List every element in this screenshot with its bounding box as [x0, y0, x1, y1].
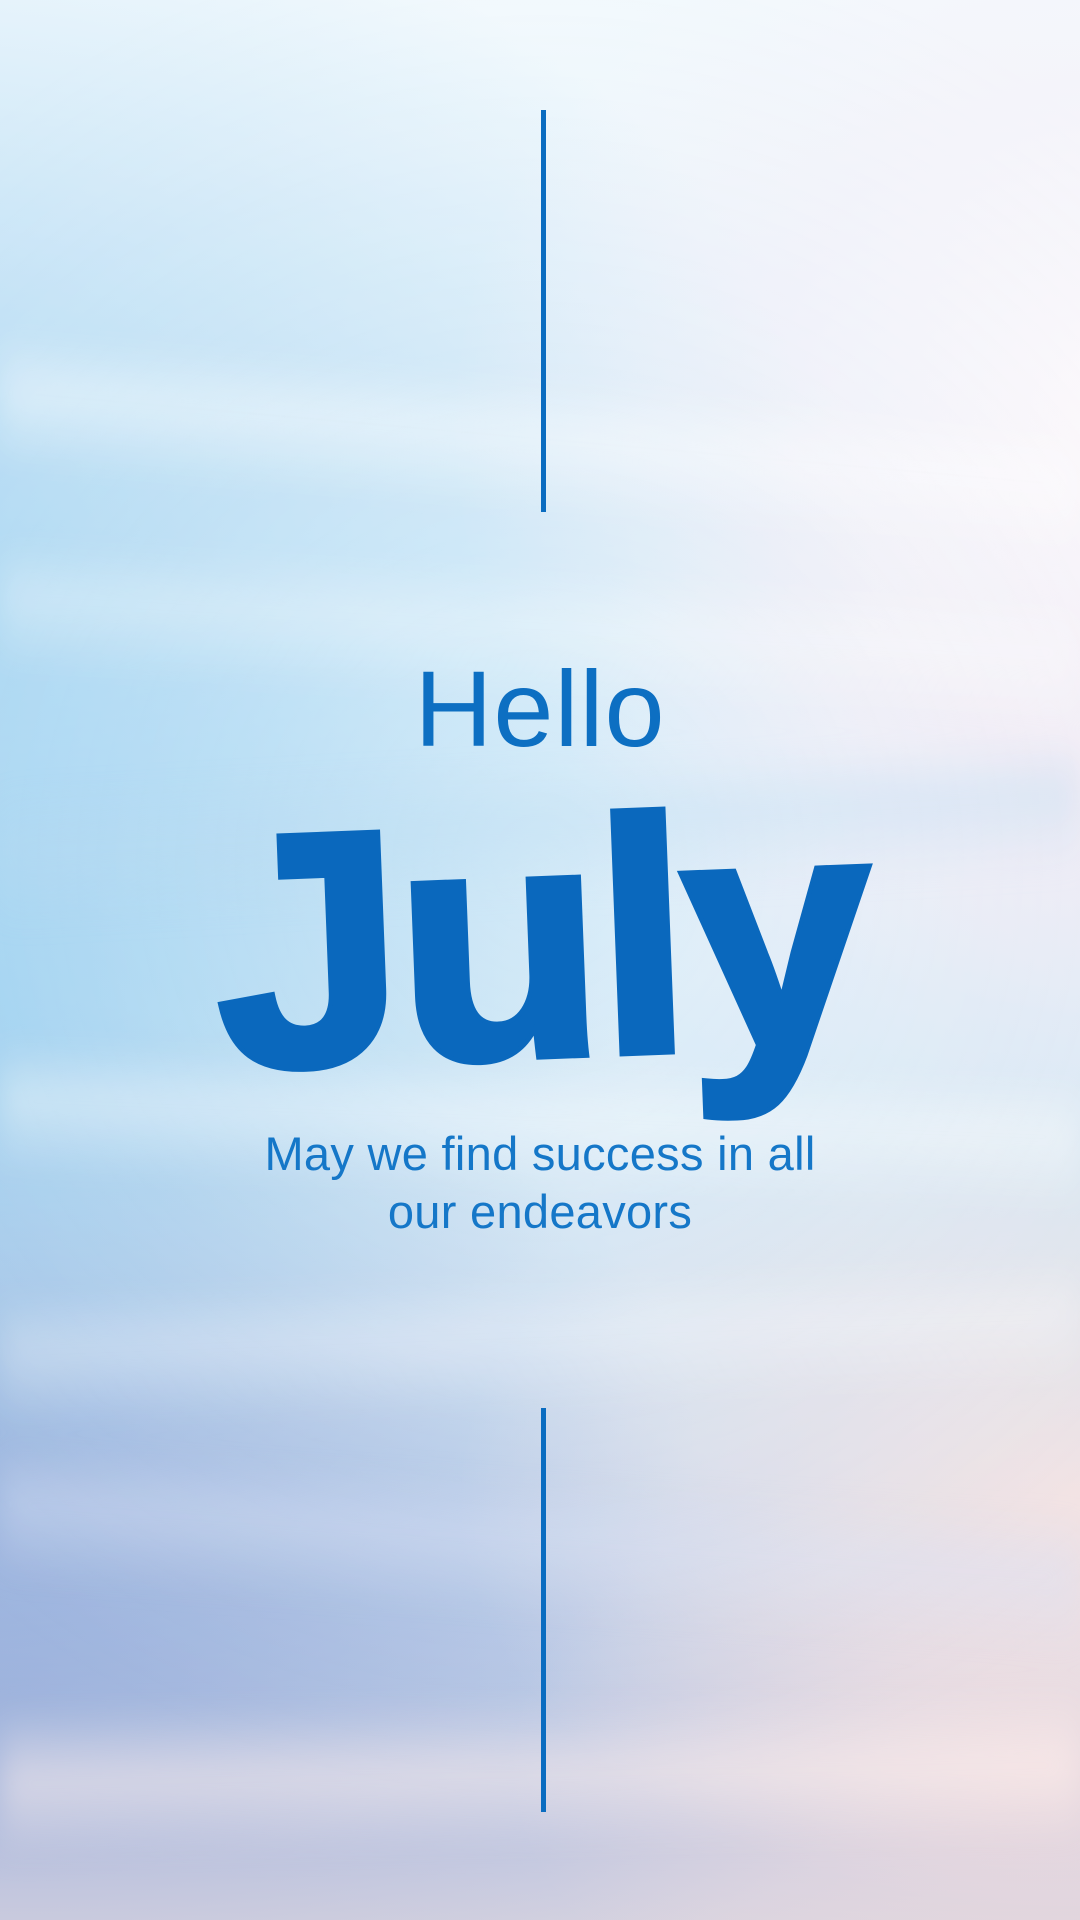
vertical-rule-bottom-icon — [541, 1408, 546, 1812]
month-greeting-poster: Hello July May we find success in all ou… — [0, 0, 1080, 1920]
month-title-container: July — [0, 776, 1080, 1106]
vertical-rule-top-icon — [541, 110, 546, 512]
tagline-line-1: May we find success in all — [0, 1125, 1080, 1183]
month-title: July — [209, 764, 870, 1119]
greeting-text: Hello — [0, 655, 1080, 763]
tagline-line-2: our endeavors — [0, 1183, 1080, 1241]
tagline: May we find success in all our endeavors — [0, 1125, 1080, 1241]
